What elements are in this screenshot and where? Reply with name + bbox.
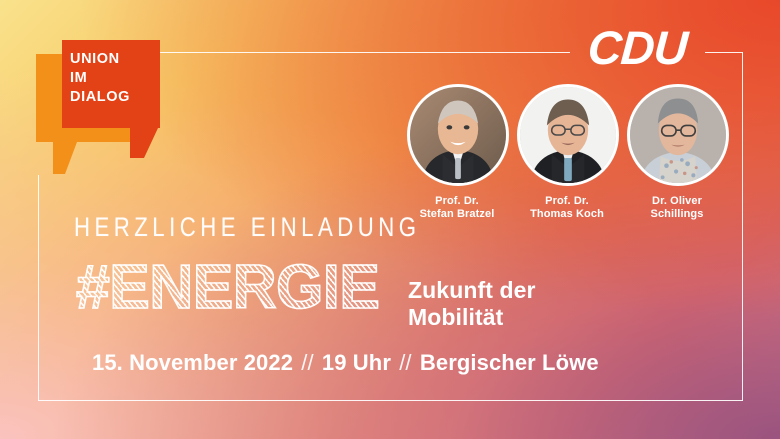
avatar [517,84,619,186]
logo-line-2: IM [70,69,158,88]
frame-line-left [38,175,39,401]
event-time: 19 Uhr [322,350,391,375]
speech-bubble-back-tail-icon [53,142,77,174]
event-headline: #ENERGIE [76,252,379,324]
speaker-name: Prof. Dr. Stefan Bratzel [407,195,507,221]
frame-line-top-right [705,52,743,53]
speaker-item: Dr. Oliver Schillings [627,84,727,234]
event-date: 15. November 2022 [92,350,293,375]
detail-separator: // [299,350,315,375]
speaker-name: Dr. Oliver Schillings [627,195,727,221]
logo-line-3: DIALOG [70,88,158,107]
avatar [627,84,729,186]
detail-separator: // [397,350,413,375]
invitation-kicker: HERZLICHE EINLADUNG [74,212,421,242]
avatar [407,84,509,186]
event-subtitle: Zukunft der Mobilität [408,277,536,331]
union-im-dialog-logo: UNION IM DIALOG [36,40,160,162]
frame-line-top-left [152,52,570,53]
portrait-thomas-koch-icon [520,87,616,183]
logo-line-1: UNION [70,50,158,69]
portrait-stefan-bratzel-icon [410,87,506,183]
portrait-oliver-schillings-icon [630,87,726,183]
cdu-wordmark: CDU [586,24,688,71]
event-details-bar: 15. November 2022 // 19 Uhr // Bergische… [92,350,599,376]
logo-text-block: UNION IM DIALOG [70,50,158,107]
speaker-name: Prof. Dr. Thomas Koch [517,195,617,221]
frame-line-bottom [38,400,743,401]
speaker-list: Prof. Dr. Stefan Bratzel Prof. [407,84,727,234]
speaker-item: Prof. Dr. Stefan Bratzel [407,84,507,234]
speaker-item: Prof. Dr. Thomas Koch [517,84,617,234]
event-venue: Bergischer Löwe [420,350,599,375]
frame-line-right [742,52,743,401]
event-poster: UNION IM DIALOG CDU [0,0,780,439]
speech-bubble-front-tail-icon [130,128,158,158]
